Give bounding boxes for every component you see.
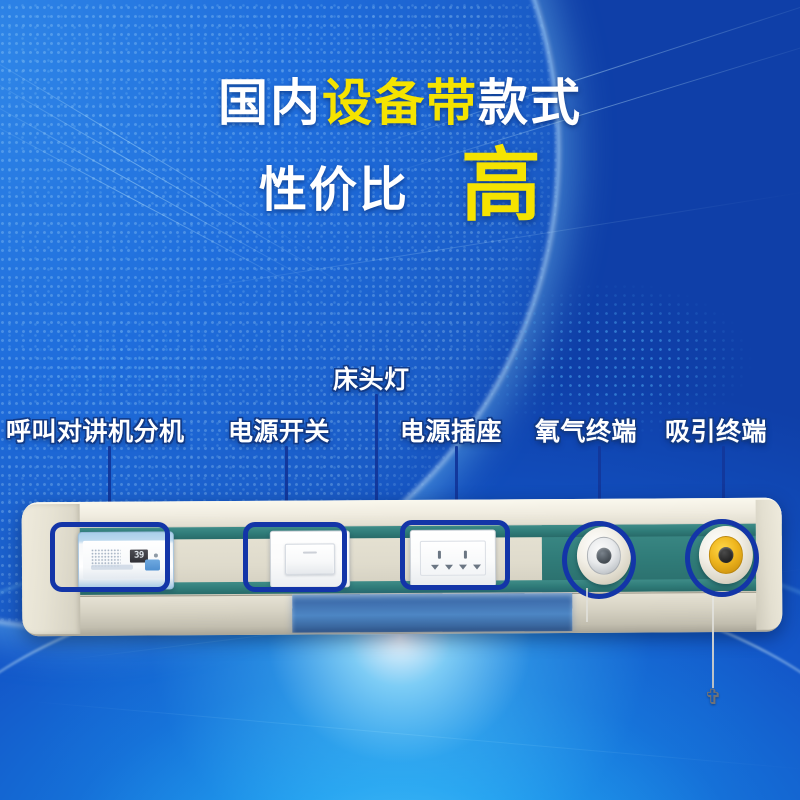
intercom-call-button[interactable] <box>145 559 160 570</box>
callout-label-power-switch: 电源开关 <box>228 412 330 448</box>
switch-indicator-mark <box>303 552 317 554</box>
oxygen-terminal-cord <box>586 588 588 622</box>
socket-pin-hole <box>445 565 453 570</box>
product-marketing-banner: 国内设备带款式 性价比 高 呼叫对讲机分机 电源开关 床头灯 电源插座 氧气终端… <box>0 0 800 800</box>
cross-connector-icon: ✞ <box>703 686 723 708</box>
oxygen-terminal-port <box>596 548 611 564</box>
callout-label-intercom: 呼叫对讲机分机 <box>6 412 185 448</box>
callout-group: 呼叫对讲机分机 电源开关 床头灯 电源插座 氧气终端 吸引终端 <box>0 0 800 800</box>
power-socket-module[interactable] <box>410 529 496 587</box>
medical-bed-head-unit: 39 <box>22 500 782 634</box>
rocker-switch[interactable] <box>285 543 335 574</box>
callout-label-power-socket: 电源插座 <box>400 412 502 448</box>
suction-terminal-cord <box>712 596 714 688</box>
nurse-call-intercom-module[interactable]: 39 <box>78 531 174 590</box>
socket-pin-hole <box>431 565 439 570</box>
socket-faceplate <box>420 540 486 575</box>
socket-pin-hole <box>459 565 467 570</box>
intercom-faceplate: 39 <box>83 540 169 579</box>
status-led-icon <box>154 553 158 557</box>
oxygen-terminal-face <box>587 537 622 574</box>
callout-label-suction: 吸引终端 <box>665 412 767 448</box>
suction-terminal-port <box>718 547 733 563</box>
socket-pin-hole <box>438 551 441 559</box>
socket-pin-hole <box>464 551 467 559</box>
callout-label-oxygen: 氧气终端 <box>535 412 637 448</box>
suction-terminal[interactable] <box>699 526 753 584</box>
intercom-label-strip <box>91 565 133 570</box>
socket-pin-hole <box>473 565 481 570</box>
oxygen-terminal[interactable] <box>577 527 631 585</box>
panel-end-cap-left <box>22 504 81 634</box>
bed-lamp-diffuser[interactable] <box>292 593 572 633</box>
panel-end-cap-right <box>756 500 783 630</box>
suction-terminal-face <box>709 536 744 573</box>
panel-body: 39 <box>22 498 783 637</box>
callout-label-bed-lamp: 床头灯 <box>333 360 410 396</box>
power-switch-module[interactable] <box>270 530 350 587</box>
